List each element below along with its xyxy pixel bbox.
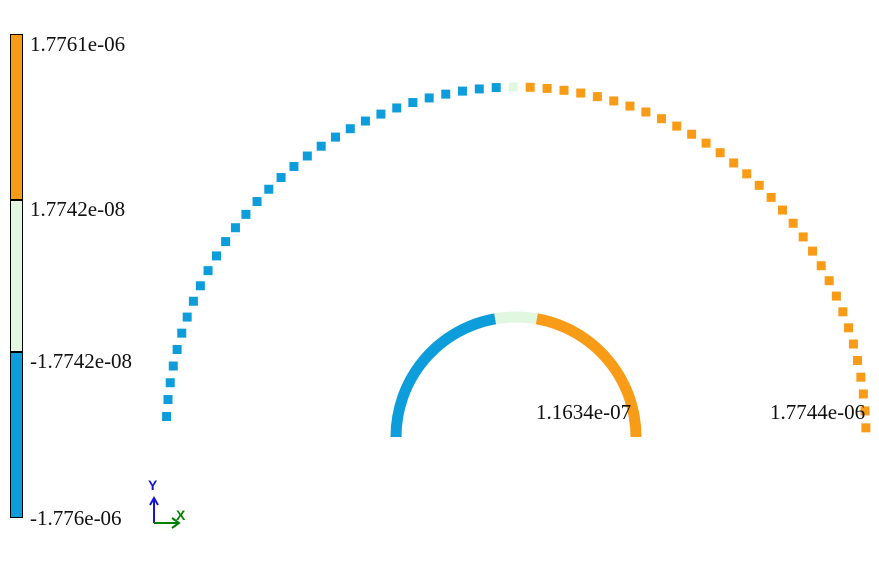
- arc-marker: [641, 107, 650, 116]
- arc-marker: [853, 356, 862, 365]
- arc-marker: [264, 185, 273, 194]
- arc-marker: [241, 210, 250, 219]
- arc-marker: [844, 323, 853, 332]
- inner-arc-value-label: 1.1634e-07: [536, 402, 631, 423]
- outer-arc-value-label: 1.7744e-06: [770, 402, 865, 423]
- arc-marker: [856, 373, 865, 382]
- arc-marker: [189, 297, 198, 306]
- arc-segment-neutral: [495, 317, 537, 319]
- arc-marker: [458, 87, 467, 96]
- arc-marker: [361, 117, 370, 126]
- arc-marker: [212, 251, 221, 260]
- arc-marker: [317, 142, 326, 151]
- arc-marker: [289, 162, 298, 171]
- arc-marker: [838, 307, 847, 316]
- arc-marker: [162, 412, 171, 421]
- arc-marker: [509, 83, 518, 92]
- arc-marker: [832, 292, 841, 301]
- arc-segment-negative: [396, 319, 495, 437]
- arc-marker: [817, 261, 826, 270]
- arc-marker: [861, 423, 870, 432]
- arc-marker: [729, 158, 738, 167]
- arc-marker: [183, 313, 192, 322]
- arc-marker: [303, 152, 312, 161]
- arc-marker: [392, 103, 401, 112]
- outer-arc: [162, 83, 870, 433]
- arc-marker: [657, 114, 666, 123]
- arc-marker: [742, 169, 751, 178]
- arc-marker: [173, 345, 182, 354]
- result-viewport[interactable]: 1.7761e-06 1.7742e-08 -1.7742e-08 -1.776…: [0, 0, 879, 564]
- arc-marker: [408, 98, 417, 107]
- arc-marker: [625, 102, 634, 111]
- arc-marker: [526, 83, 535, 92]
- arc-marker: [687, 130, 696, 139]
- arc-marker: [196, 281, 205, 290]
- arc-marker: [808, 247, 817, 256]
- arc-marker: [576, 89, 585, 98]
- arc-marker: [543, 84, 552, 93]
- arc-marker: [672, 122, 681, 131]
- axis-triad[interactable]: Y X: [143, 478, 199, 538]
- x-axis-arrow-icon: [154, 518, 179, 528]
- arc-marker: [702, 139, 711, 148]
- arc-marker: [164, 395, 173, 404]
- arc-marker: [849, 340, 858, 349]
- arc-marker: [166, 378, 175, 387]
- arc-marker: [755, 181, 764, 190]
- arc-marker: [593, 92, 602, 101]
- arc-marker: [169, 362, 178, 371]
- arc-marker: [609, 96, 618, 105]
- arc-marker: [492, 83, 501, 92]
- arc-marker: [789, 219, 798, 228]
- arc-marker: [441, 90, 450, 99]
- arc-layer: [162, 83, 870, 437]
- arc-marker: [277, 173, 286, 182]
- arc-marker: [778, 206, 787, 215]
- axis-triad-arrows: [143, 478, 199, 538]
- arc-marker: [376, 110, 385, 119]
- contour-plot[interactable]: [0, 0, 879, 564]
- arc-marker: [425, 93, 434, 102]
- arc-marker: [253, 197, 262, 206]
- arc-marker: [825, 276, 834, 285]
- arc-marker: [231, 223, 240, 232]
- arc-marker: [204, 266, 213, 275]
- arc-marker: [559, 86, 568, 95]
- arc-marker: [331, 133, 340, 142]
- arc-marker: [799, 232, 808, 241]
- arc-marker: [475, 84, 484, 93]
- arc-marker: [346, 124, 355, 133]
- arc-marker: [221, 237, 230, 246]
- arc-marker: [716, 148, 725, 157]
- arc-marker: [767, 193, 776, 202]
- arc-marker: [859, 389, 868, 398]
- arc-marker: [177, 329, 186, 338]
- y-axis-arrow-icon: [150, 498, 158, 523]
